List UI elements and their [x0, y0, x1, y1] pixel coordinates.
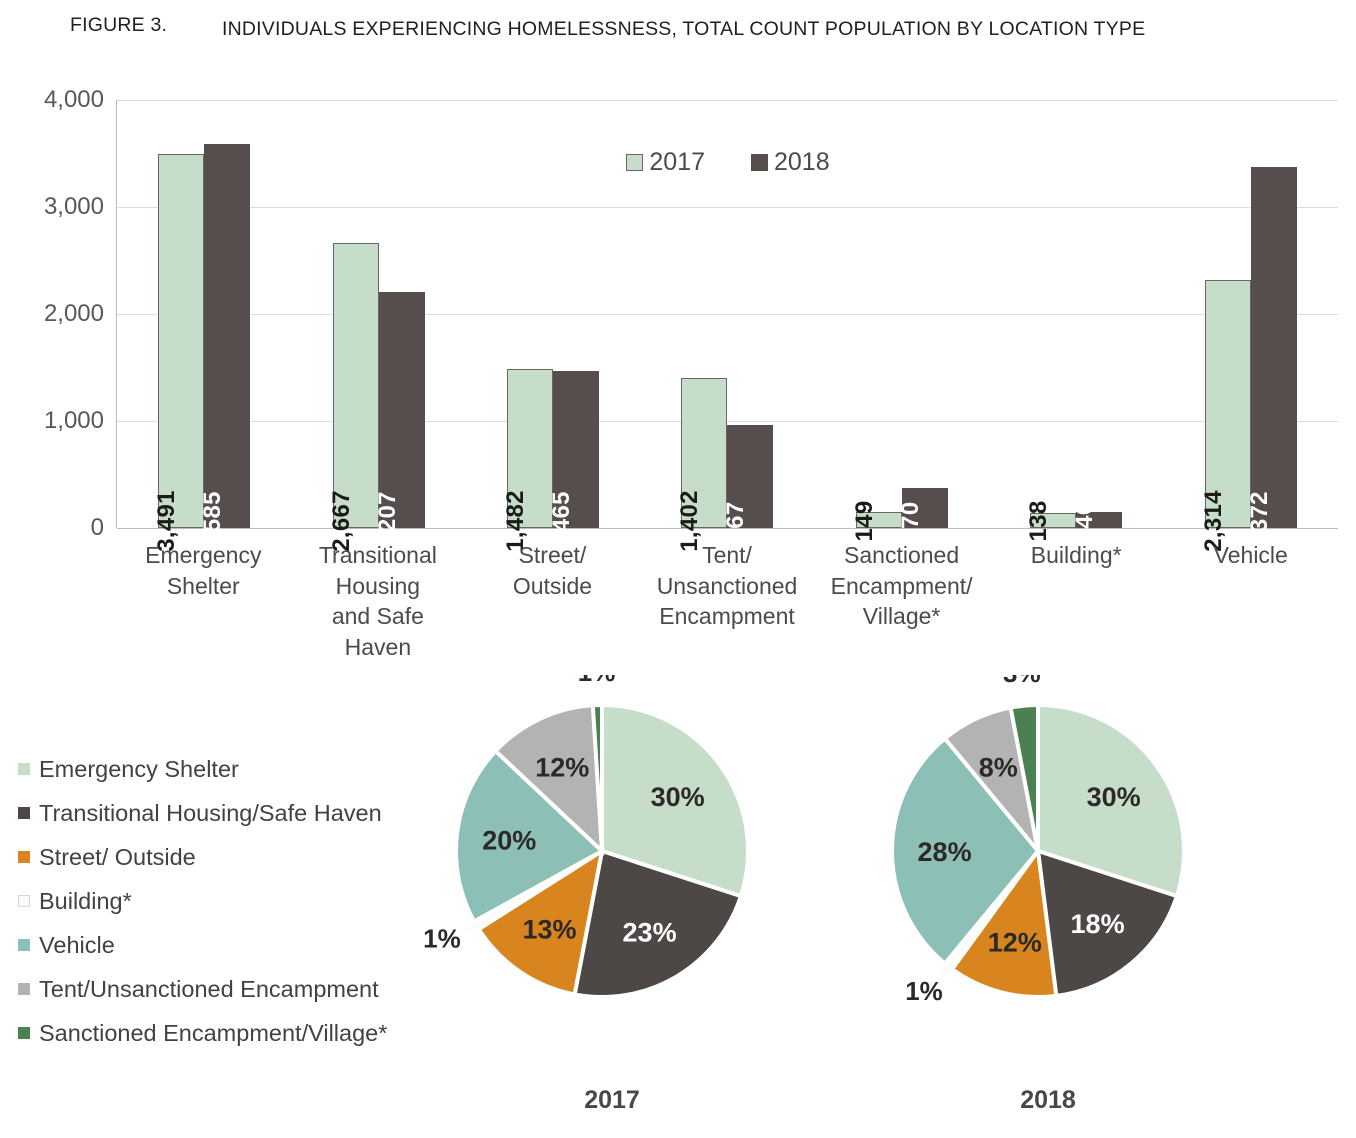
bar-2018[interactable]: 146: [1076, 512, 1122, 528]
pie-legend-label: Sanctioned Encampment/Village*: [39, 1020, 387, 1047]
pie-svg: 30%23%13%1%20%12%1%: [422, 675, 782, 1043]
pie-legend-item[interactable]: Emergency Shelter: [18, 747, 418, 791]
bar-2017[interactable]: 1,402: [681, 378, 727, 528]
bar-2017[interactable]: 2,314: [1205, 280, 1251, 528]
bar-2017[interactable]: 1,482: [507, 369, 553, 528]
bar-2017[interactable]: 149: [856, 512, 902, 528]
x-axis-category-label: TransitionalHousingand SafeHaven: [291, 540, 466, 662]
bar-chart-category-labels: EmergencyShelterTransitionalHousingand S…: [116, 540, 1338, 662]
figure-title: FIGURE 3. INDIVIDUALS EXPERIENCING HOMEL…: [70, 14, 1190, 44]
pie-slice-label: 3%: [1003, 675, 1041, 688]
bar-2018[interactable]: 370: [902, 488, 948, 528]
pie-legend-label: Transitional Housing/Safe Haven: [39, 800, 382, 827]
pie-slice-label: 30%: [651, 782, 705, 812]
pie-legend-label: Tent/Unsanctioned Encampment: [39, 976, 379, 1003]
pie-slice-label: 1%: [423, 924, 461, 954]
y-axis-tick: 4,000: [44, 86, 104, 114]
pie-slice-label: 18%: [1071, 909, 1125, 939]
legend-item-2018[interactable]: 2018: [751, 148, 830, 177]
bar-2018[interactable]: 1,465: [553, 371, 599, 528]
y-axis-tick: 2,000: [44, 300, 104, 328]
pie-svg: 30%18%12%1%28%8%3%: [858, 675, 1218, 1043]
bar-2017[interactable]: 2,667: [333, 243, 379, 528]
x-axis-category-label: Building*: [989, 540, 1164, 662]
bar-2017[interactable]: 138: [1030, 513, 1076, 528]
pie-charts-section: Emergency ShelterTransitional Housing/Sa…: [0, 655, 1356, 1138]
y-axis-tick: 0: [91, 514, 104, 542]
pie-legend-swatch-icon: [18, 807, 30, 819]
pie-slice-label: 23%: [623, 917, 677, 947]
x-axis-category-label: Street/Outside: [465, 540, 640, 662]
pie-legend-item[interactable]: Vehicle: [18, 923, 418, 967]
pie-slice-label: 30%: [1087, 782, 1141, 812]
y-axis-tick: 1,000: [44, 407, 104, 435]
figure-title-text: INDIVIDUALS EXPERIENCING HOMELESSNESS, T…: [222, 14, 1190, 44]
pie-slice-label: 1%: [905, 976, 943, 1006]
pie-slice-label: 28%: [918, 837, 972, 867]
bar-2018[interactable]: 2,207: [379, 292, 425, 528]
bar-chart-y-axis: 01,0002,0003,0004,000: [22, 88, 114, 528]
pie-slice-label: 12%: [988, 928, 1042, 958]
bar-2017[interactable]: 3,491: [158, 154, 204, 528]
legend-item-2017[interactable]: 2017: [626, 148, 705, 177]
pie-legend-swatch-icon: [18, 851, 30, 863]
figure-number: FIGURE 3.: [70, 14, 222, 37]
pie-slice-label: 13%: [522, 914, 576, 944]
bar-value-label: 146: [1071, 502, 1099, 543]
legend-swatch-icon: [626, 154, 643, 171]
pie-slice-label: 20%: [482, 825, 536, 855]
bar-chart-legend: 20172018: [117, 148, 1339, 177]
pie-legend-swatch-icon: [18, 895, 30, 907]
pie-legend-swatch-icon: [18, 983, 30, 995]
y-axis-tick: 3,000: [44, 193, 104, 221]
bar-chart: 01,0002,0003,0004,000 3,4913,5852,6672,2…: [0, 88, 1356, 648]
pie-legend-item[interactable]: Tent/Unsanctioned Encampment: [18, 967, 418, 1011]
legend-label: 2018: [774, 148, 830, 177]
bar-value-label: 149: [851, 501, 879, 542]
pie-chart-2017: 30%23%13%1%20%12%1% 2017: [422, 675, 802, 1115]
bar-value-label: 370: [897, 502, 925, 543]
bar-chart-plot-area: 3,4913,5852,6672,2071,4821,4651,40296714…: [116, 100, 1338, 528]
bar-2018[interactable]: 3,372: [1251, 167, 1297, 528]
pie-legend-label: Street/ Outside: [39, 844, 196, 871]
pie-legend-label: Building*: [39, 888, 132, 915]
legend-swatch-icon: [751, 154, 768, 171]
pie-legend-item[interactable]: Street/ Outside: [18, 835, 418, 879]
bar-value-label: 138: [1025, 501, 1053, 542]
pie-legend-swatch-icon: [18, 763, 30, 775]
legend-label: 2017: [649, 148, 705, 177]
pie-legend-label: Vehicle: [39, 932, 115, 959]
bar-value-label: 967: [722, 502, 750, 543]
bar-2018[interactable]: 967: [727, 425, 773, 528]
x-axis-category-label: EmergencyShelter: [116, 540, 291, 662]
pie-slice-label: 8%: [979, 752, 1018, 782]
pie-chart-2018: 30%18%12%1%28%8%3% 2018: [858, 675, 1238, 1115]
pie-legend-item[interactable]: Building*: [18, 879, 418, 923]
x-axis-category-label: Tent/UnsanctionedEncampment: [640, 540, 815, 662]
bar-2018[interactable]: 3,585: [204, 144, 250, 528]
pie-slice-label: 1%: [578, 675, 616, 687]
x-axis-category-label: SanctionedEncampment/Village*: [814, 540, 989, 662]
pie-chart-2018-caption: 2018: [858, 1086, 1238, 1115]
pie-legend-item[interactable]: Sanctioned Encampment/Village*: [18, 1011, 418, 1055]
x-axis-category-label: Vehicle: [1163, 540, 1338, 662]
pie-legend: Emergency ShelterTransitional Housing/Sa…: [18, 747, 418, 1055]
pie-legend-swatch-icon: [18, 1027, 30, 1039]
pie-chart-2017-caption: 2017: [422, 1086, 802, 1115]
pie-slice-label: 12%: [535, 752, 589, 782]
pie-legend-swatch-icon: [18, 939, 30, 951]
pie-legend-label: Emergency Shelter: [39, 756, 239, 783]
pie-legend-item[interactable]: Transitional Housing/Safe Haven: [18, 791, 418, 835]
